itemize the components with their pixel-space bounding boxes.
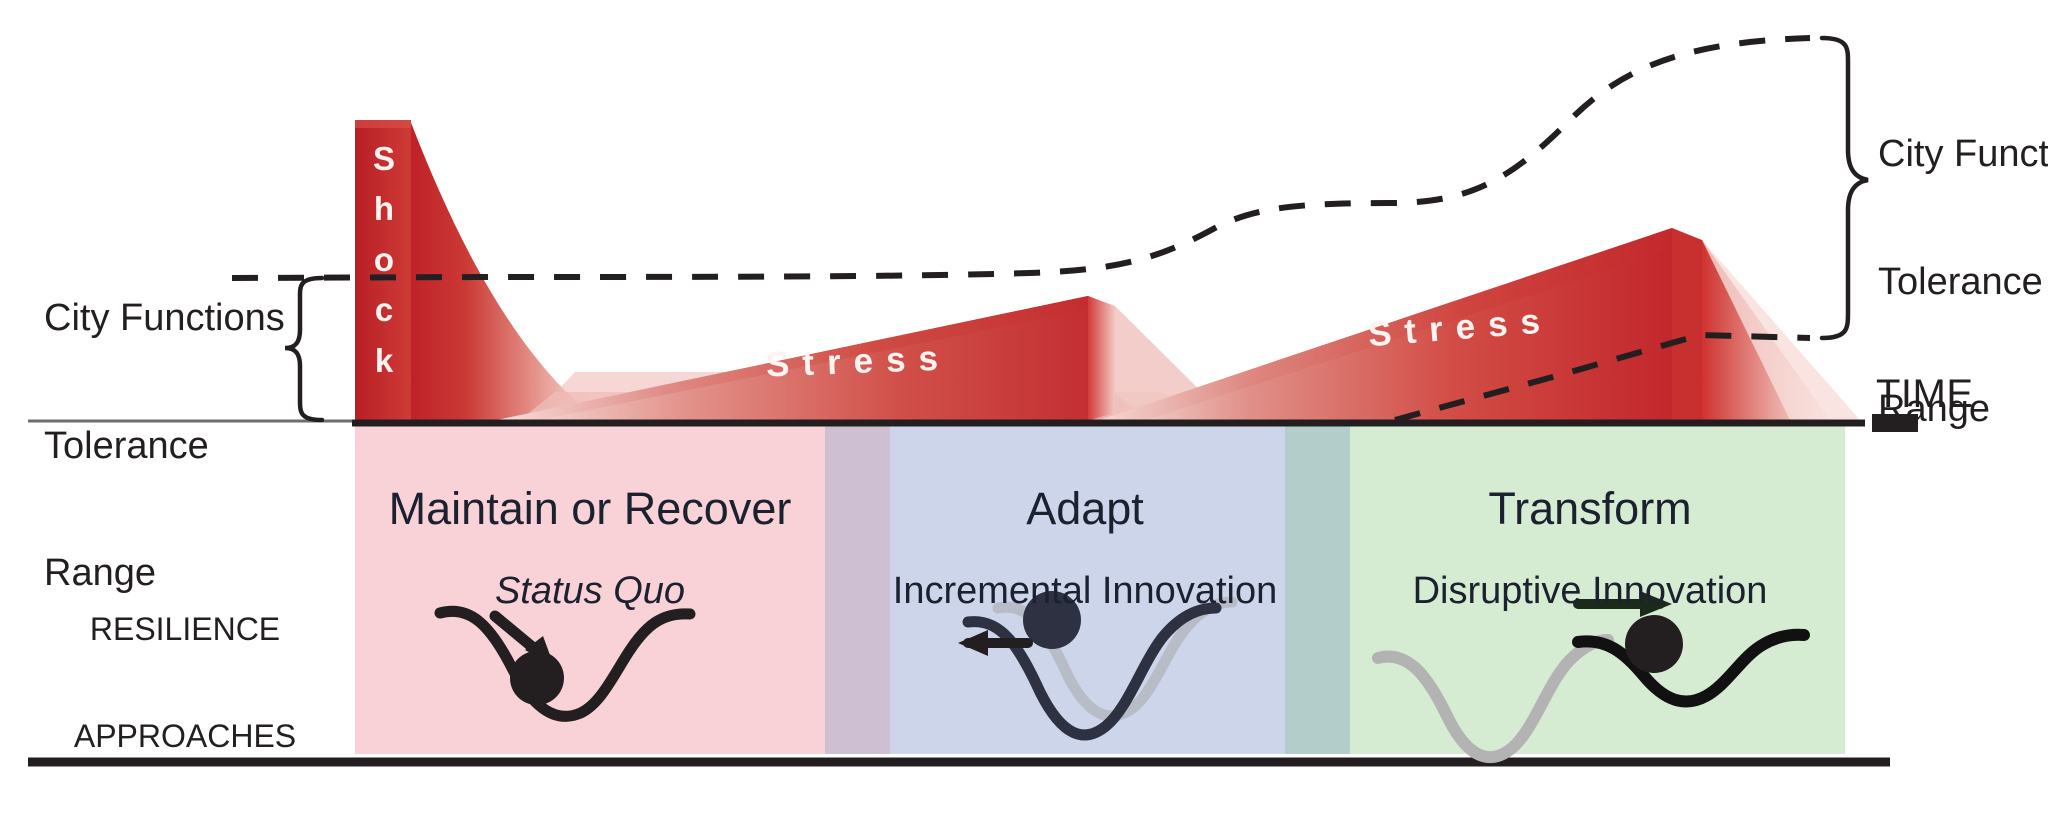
time-axis-label: TIME <box>1876 372 1974 417</box>
right-tolerance-line-1: City Functions <box>1878 133 2048 176</box>
shock-letter-3: o <box>356 241 412 279</box>
shock-letter-4: c <box>356 291 412 329</box>
resilience-approaches-line-1: RESILIENCE <box>20 612 350 648</box>
diagram-canvas: City Functions Tolerance Range City Func… <box>0 0 2048 772</box>
stress-1-label: Stress <box>765 338 951 385</box>
approach-maintain-title: Maintain or Recover <box>355 484 825 534</box>
approach-adapt-subtitle: Incremental Innovation <box>840 570 1330 613</box>
left-tolerance-line-1: City Functions <box>44 297 304 340</box>
shock-letter-1: S <box>356 140 412 178</box>
upper-tolerance-dashed <box>232 38 1810 278</box>
approach-maintain-text: Maintain or Recover Status Quo <box>355 448 825 648</box>
shock-letter-2: h <box>356 190 412 228</box>
approach-transform-title: Transform <box>1340 484 1840 534</box>
resilience-approaches-label: RESILIENCE APPROACHES <box>20 540 350 827</box>
right-tolerance-label: City Functions Tolerance Range <box>1878 48 2048 516</box>
approach-transform-subtitle: Disruptive Innovation <box>1340 570 1840 613</box>
approach-adapt-text: Adapt Incremental Innovation <box>840 448 1330 648</box>
right-curly-brace <box>1822 38 1868 338</box>
approach-adapt-title: Adapt <box>840 484 1330 534</box>
approach-transform-text: Transform Disruptive Innovation <box>1340 448 1840 648</box>
shock-letter-5: k <box>356 342 412 380</box>
resilience-approaches-line-2: APPROACHES <box>20 719 350 755</box>
approach-maintain-subtitle: Status Quo <box>355 570 825 613</box>
right-tolerance-line-2: Tolerance <box>1878 261 2048 304</box>
left-tolerance-line-2: Tolerance <box>44 425 304 468</box>
